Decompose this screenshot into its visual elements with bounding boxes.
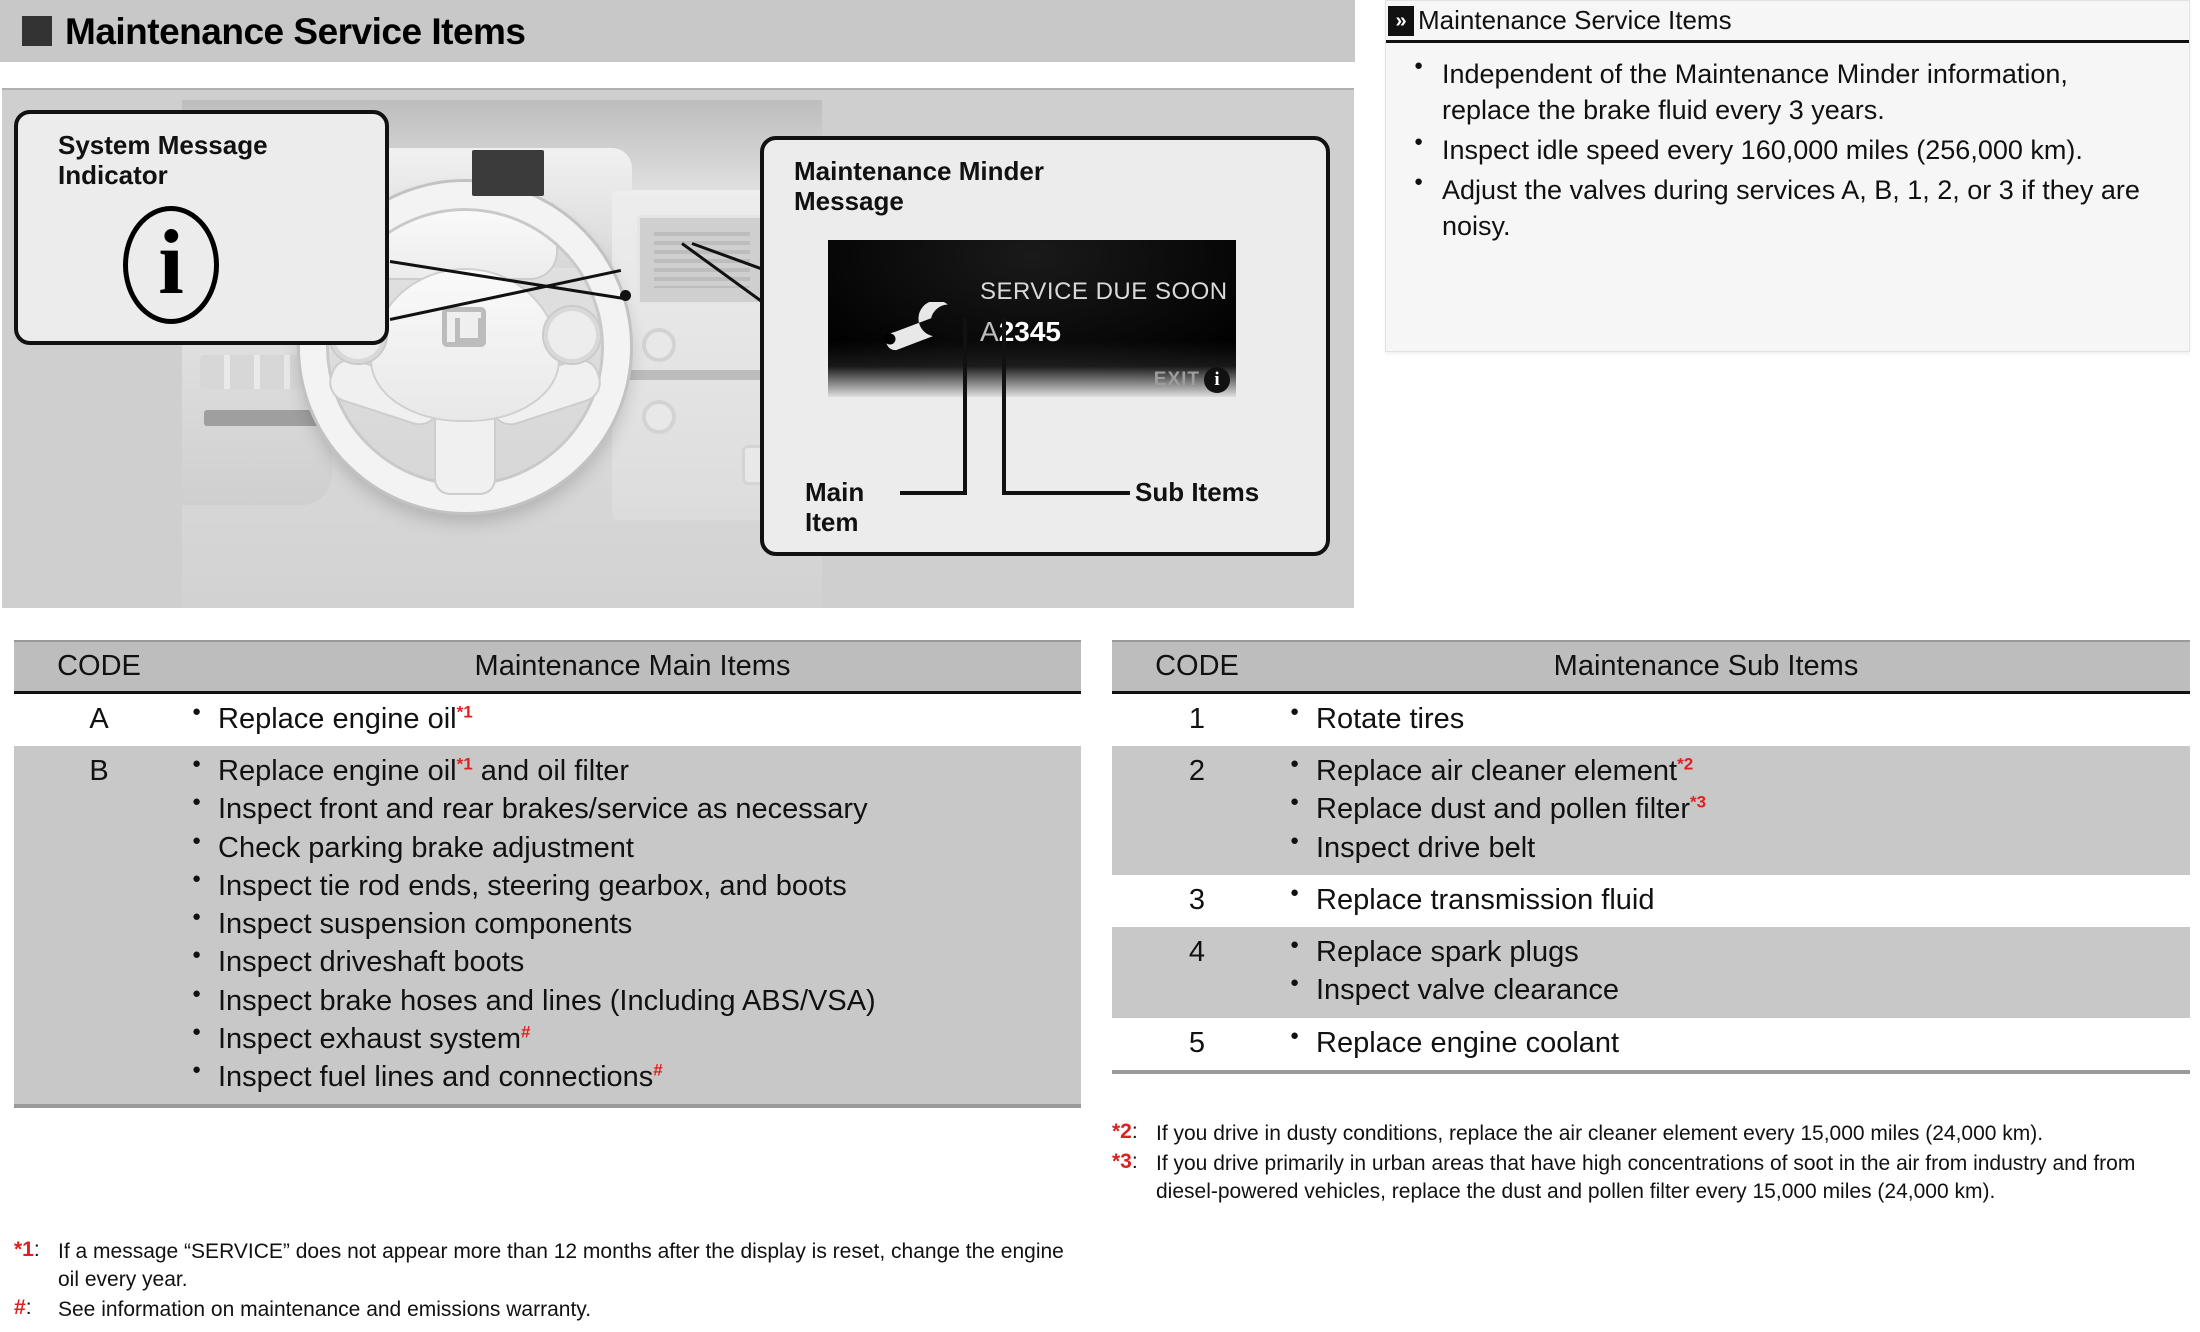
display-sub-codes: 2345 (999, 316, 1061, 347)
table-row: 3Replace transmission fluid (1112, 875, 2190, 927)
page-header-bar: Maintenance Service Items (0, 0, 1355, 62)
list-item: Inspect valve clearance (1316, 973, 2190, 1007)
row-code: 2 (1112, 746, 1282, 788)
list-item: Inspect suspension components (218, 907, 1081, 941)
list-item: Inspect idle speed every 160,000 miles (… (1442, 133, 2161, 169)
list-item: Rotate tires (1316, 702, 2190, 736)
information-i-glyph: i (158, 216, 184, 308)
column-header-code: CODE (14, 650, 184, 683)
footnote-text: See information on maintenance and emiss… (58, 1296, 591, 1324)
display-codes: A2345 (980, 316, 1061, 348)
row-items: Rotate tires (1282, 694, 2190, 746)
double-chevron-right-icon: » (1388, 6, 1414, 36)
list-item: Inspect brake hoses and lines (Including… (218, 984, 1081, 1018)
footnote-marker: *3 (1690, 793, 1706, 812)
filled-square-icon (22, 16, 52, 46)
list-item: Inspect front and rear brakes/service as… (218, 792, 1081, 826)
list-item: Replace engine coolant (1316, 1026, 2190, 1060)
column-header-items: Maintenance Sub Items (1282, 650, 2190, 683)
maintenance-minder-display: SERVICE DUE SOON A2345 EXIT i (828, 240, 1236, 397)
label-main-item: Main Item (805, 478, 864, 538)
footnote-row: *2:If you drive in dusty conditions, rep… (1112, 1120, 2194, 1148)
list-item: Adjust the valves during services A, B, … (1442, 173, 2161, 245)
table-bottom-rule (14, 1104, 1081, 1108)
row-code: 4 (1112, 927, 1282, 969)
info-box: » Maintenance Service Items Independent … (1385, 0, 2190, 352)
row-code: 3 (1112, 875, 1282, 917)
row-items: Replace spark plugsInspect valve clearan… (1282, 927, 2190, 1017)
column-header-items: Maintenance Main Items (184, 650, 1081, 683)
footnote-marker: *1 (457, 755, 473, 774)
list-item: Inspect driveshaft boots (218, 945, 1081, 979)
callout-system-message-indicator: System Message Indicator i (14, 110, 389, 345)
footnotes-left: *1:If a message “SERVICE” does not appea… (14, 1238, 1084, 1326)
list-item: Replace engine oil*1 and oil filter (218, 754, 1081, 788)
list-item: Replace spark plugs (1316, 935, 2190, 969)
pointer-sub-horizontal (1002, 491, 1130, 495)
table-row: AReplace engine oil*1 (14, 694, 1081, 746)
footnote-marker: # (521, 1022, 530, 1041)
row-code: 5 (1112, 1018, 1282, 1060)
list-item: Replace dust and pollen filter*3 (1316, 792, 2190, 826)
info-circle-icon: i (1204, 367, 1230, 393)
footnote-row: *1:If a message “SERVICE” does not appea… (14, 1238, 1084, 1294)
pointer-sub-vertical (1002, 318, 1006, 493)
footnote-text: If a message “SERVICE” does not appear m… (58, 1238, 1084, 1294)
footnote-marker: #: (14, 1296, 58, 1320)
maintenance-main-items-table: CODE Maintenance Main Items AReplace eng… (14, 640, 1081, 1108)
row-code: A (14, 694, 184, 736)
table-row: 2Replace air cleaner element*2Replace du… (1112, 746, 2190, 875)
table-header-row: CODE Maintenance Main Items (14, 642, 1081, 694)
table-body: 1Rotate tires2Replace air cleaner elemen… (1112, 694, 2190, 1070)
honda-logo-icon (442, 307, 486, 347)
footnote-marker: # (653, 1060, 662, 1079)
footnote-marker: *2 (1677, 755, 1693, 774)
instrument-display-highlight (472, 150, 544, 196)
footnote-marker: *1: (14, 1238, 58, 1262)
manual-page: Maintenance Service Items (0, 0, 2200, 1332)
page-title: Maintenance Service Items (65, 13, 526, 50)
list-item: Replace transmission fluid (1316, 883, 2190, 917)
row-items: Replace air cleaner element*2Replace dus… (1282, 746, 2190, 875)
pointer-main-vertical (963, 318, 967, 493)
table-row: 4Replace spark plugsInspect valve cleara… (1112, 927, 2190, 1017)
display-exit-label: EXIT (1154, 369, 1200, 391)
row-items: Replace engine oil*1 (184, 694, 1081, 746)
list-item: Check parking brake adjustment (218, 831, 1081, 865)
leader-dot (620, 290, 631, 301)
footnote-marker: *3: (1112, 1150, 1156, 1174)
row-code: 1 (1112, 694, 1282, 736)
row-items: Replace transmission fluid (1282, 875, 2190, 927)
footnotes-right: *2:If you drive in dusty conditions, rep… (1112, 1120, 2194, 1208)
wrench-icon (872, 302, 958, 354)
list-item: Inspect drive belt (1316, 831, 2190, 865)
list-item: Inspect fuel lines and connections# (218, 1060, 1081, 1094)
list-item: Inspect exhaust system# (218, 1022, 1081, 1056)
table-row: 5Replace engine coolant (1112, 1018, 2190, 1070)
pointer-main-horizontal (900, 491, 967, 495)
footnote-marker: *1 (457, 702, 473, 721)
table-row: 1Rotate tires (1112, 694, 2190, 746)
list-item: Replace air cleaner element*2 (1316, 754, 2190, 788)
table-bottom-rule (1112, 1070, 2190, 1074)
table-row: BReplace engine oil*1 and oil filterInsp… (14, 746, 1081, 1104)
table-body: AReplace engine oil*1BReplace engine oil… (14, 694, 1081, 1104)
row-items: Replace engine coolant (1282, 1018, 2190, 1070)
footnote-text: If you drive in dusty conditions, replac… (1156, 1120, 2043, 1148)
column-header-code: CODE (1112, 650, 1282, 683)
row-code: B (14, 746, 184, 788)
display-message: SERVICE DUE SOON (980, 278, 1228, 306)
label-sub-items: Sub Items (1135, 478, 1259, 508)
footnote-row: *3:If you drive primarily in urban areas… (1112, 1150, 2194, 1206)
list-item: Independent of the Maintenance Minder in… (1442, 57, 2161, 129)
callout-right-title: Maintenance Minder Message (764, 140, 1326, 217)
footnote-row: #:See information on maintenance and emi… (14, 1296, 1084, 1324)
info-box-title: Maintenance Service Items (1418, 5, 1732, 36)
callout-left-title: System Message Indicator (18, 114, 385, 191)
footnote-text: If you drive primarily in urban areas th… (1156, 1150, 2194, 1206)
table-header-row: CODE Maintenance Sub Items (1112, 642, 2190, 694)
maintenance-sub-items-table: CODE Maintenance Sub Items 1Rotate tires… (1112, 640, 2190, 1074)
display-main-code: A (980, 316, 999, 347)
list-item: Inspect tie rod ends, steering gearbox, … (218, 869, 1081, 903)
info-box-header: » Maintenance Service Items (1386, 1, 2189, 43)
footnote-marker: *2: (1112, 1120, 1156, 1144)
row-items: Replace engine oil*1 and oil filterInspe… (184, 746, 1081, 1104)
list-item: Replace engine oil*1 (218, 702, 1081, 736)
info-box-list: Independent of the Maintenance Minder in… (1386, 57, 2189, 245)
information-i-icon: i (123, 206, 219, 324)
